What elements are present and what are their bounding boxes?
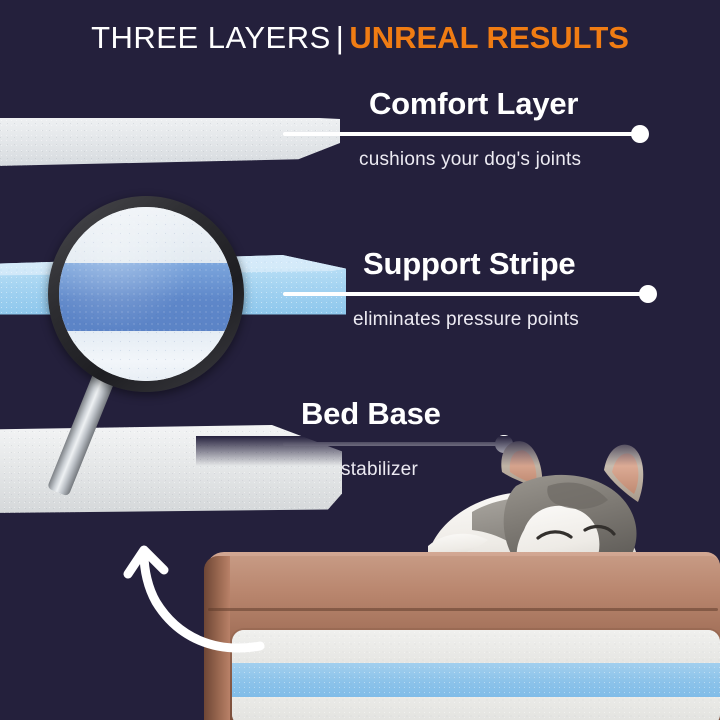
page-title: THREE LAYERS|UNREAL RESULTS	[0, 22, 720, 53]
connector-rule	[283, 132, 641, 136]
callout-support-stripe: Support Stripe eliminates pressure point…	[283, 248, 663, 329]
connector-dot	[639, 285, 657, 303]
arrow-svg	[120, 528, 320, 668]
lens-foam-texture	[59, 207, 233, 381]
connector-rule	[283, 292, 649, 296]
callout-title: Support Stripe	[363, 248, 663, 279]
callout-subtitle: eliminates pressure points	[353, 310, 663, 329]
curved-up-arrow-icon	[120, 528, 320, 668]
connector-dot	[631, 125, 649, 143]
infographic-canvas: THREE LAYERS|UNREAL RESULTS Comfort Laye…	[0, 0, 720, 720]
magnifier-lens	[59, 207, 233, 381]
title-separator: |	[336, 20, 345, 55]
title-part-accent: UNREAL RESULTS	[349, 20, 629, 55]
title-part-light: THREE LAYERS	[91, 20, 331, 55]
callout-connector-line	[283, 125, 651, 143]
callout-comfort-layer: Comfort Layer cushions your dog's joints	[283, 88, 663, 169]
callout-title: Bed Base	[301, 398, 533, 429]
callout-title: Comfort Layer	[369, 88, 663, 119]
callout-subtitle: cushions your dog's joints	[359, 150, 663, 169]
callout-connector-line	[283, 285, 659, 303]
